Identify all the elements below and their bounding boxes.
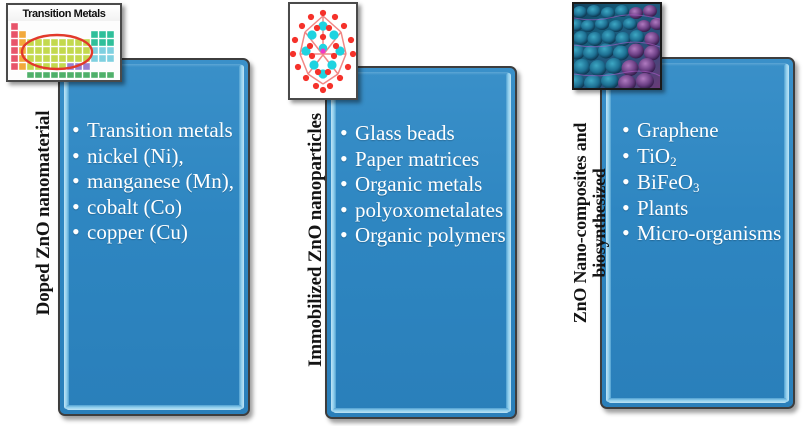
panel-label-1: Doped ZnO nanomaterial [31,63,57,363]
list-item: BiFeO3 [622,170,787,195]
sem-micrograph-thumbnail [572,2,662,90]
panel-label-3-line-2: biosynthesized [590,123,609,323]
thumbnail-image [290,4,356,98]
thumbnail-caption: Transition Metals [8,6,120,21]
list-item: Transition metals [72,118,242,143]
periodic-table-transition-metals-thumbnail: Transition Metals [6,3,122,82]
molecule-svg [290,4,356,98]
bullet-list-1: Transition metals nickel (Ni), manganese… [72,118,242,246]
bullet-list-2: Glass beads Paper matrices Organic metal… [340,121,510,249]
list-item: TiO2 [622,144,787,169]
list-item: manganese (Mn), [72,169,242,194]
diagram-canvas: Transition metals nickel (Ni), manganese… [0,0,809,426]
list-item: cobalt (Co) [72,195,242,220]
box-left-highlight [331,73,336,412]
periodic-table-grid [10,22,118,77]
box-top-highlight [333,72,509,75]
box-left-highlight [64,65,69,409]
panel-doped-zno-nanomaterial: Transition metals nickel (Ni), manganese… [0,0,270,426]
list-item: Glass beads [340,121,510,146]
list-item: Organic metals [340,172,510,197]
list-item: Organic polymers [340,223,510,248]
thumbnail-image [574,4,660,88]
bullet-list-3: Graphene TiO2 BiFeO3 Plants Micro-organi… [622,118,787,247]
polyoxometalate-molecule-thumbnail [288,2,358,100]
panel-label-2: Immobilized ZnO nanoparticles [303,80,329,400]
list-item: Graphene [622,118,787,143]
panel-label-3: ZnO Nano-composites and biosynthesized [567,68,613,378]
list-item: Micro-organisms [622,221,787,246]
panel-zno-nanocomposites-and-biosynthesized: Graphene TiO2 BiFeO3 Plants Micro-organi… [540,0,809,426]
panel-label-3-line-1: ZnO Nano-composites and [571,123,590,323]
box-bottom-highlight [333,408,509,413]
periodic-table-svg [10,22,122,81]
thumbnail-image: Transition Metals [8,5,120,80]
panel-immobilized-zno-nanoparticles: Glass beads Paper matrices Organic metal… [270,0,540,426]
list-item: Plants [622,196,787,221]
sem-micrograph-svg [574,4,660,88]
list-item: nickel (Ni), [72,144,242,169]
list-item: Paper matrices [340,147,510,172]
list-item: copper (Cu) [72,220,242,245]
list-item: polyoxometalates [340,198,510,223]
box-bottom-highlight [608,398,787,403]
box-bottom-highlight [66,405,242,410]
